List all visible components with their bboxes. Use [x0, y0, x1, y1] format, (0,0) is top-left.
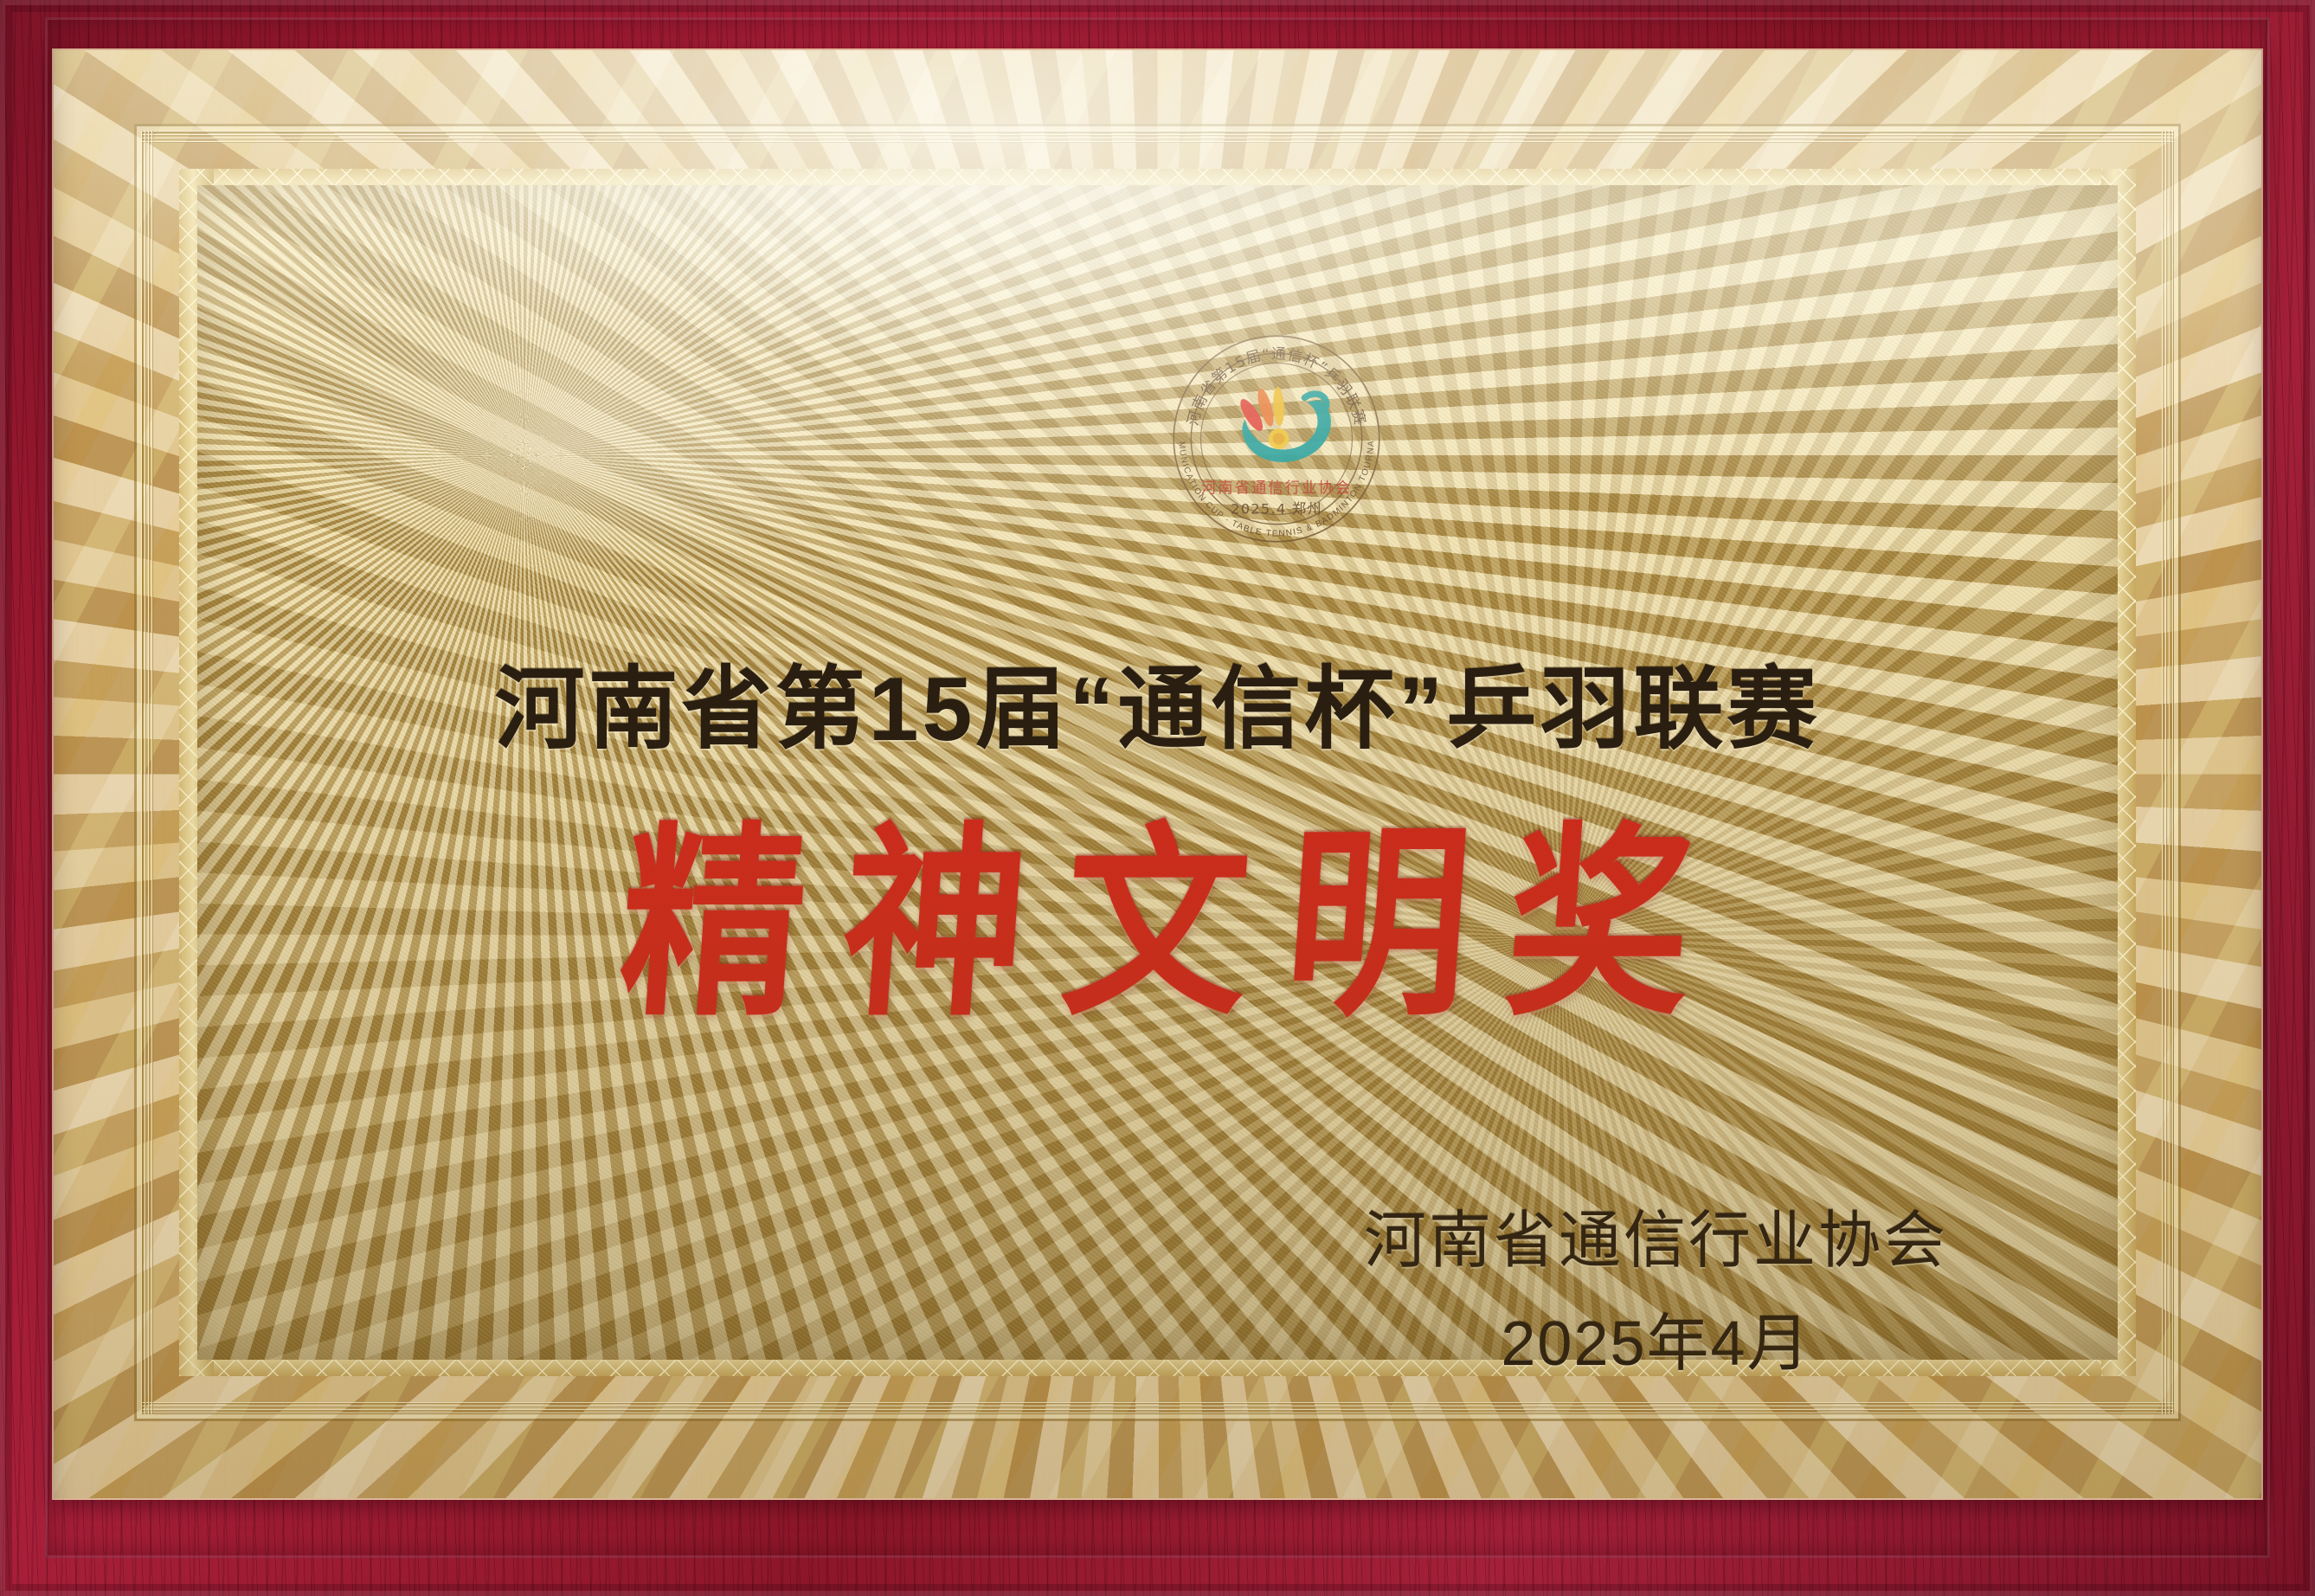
gold-plate: 河南省第15届“通信杯”乒羽联赛 THE 15TH · COMMUNICATIO…	[54, 50, 2261, 1498]
award-plaque: 河南省第15届“通信杯”乒羽联赛 THE 15TH · COMMUNICATIO…	[0, 0, 2315, 1596]
plate-sheen-overlay	[54, 50, 2261, 1498]
